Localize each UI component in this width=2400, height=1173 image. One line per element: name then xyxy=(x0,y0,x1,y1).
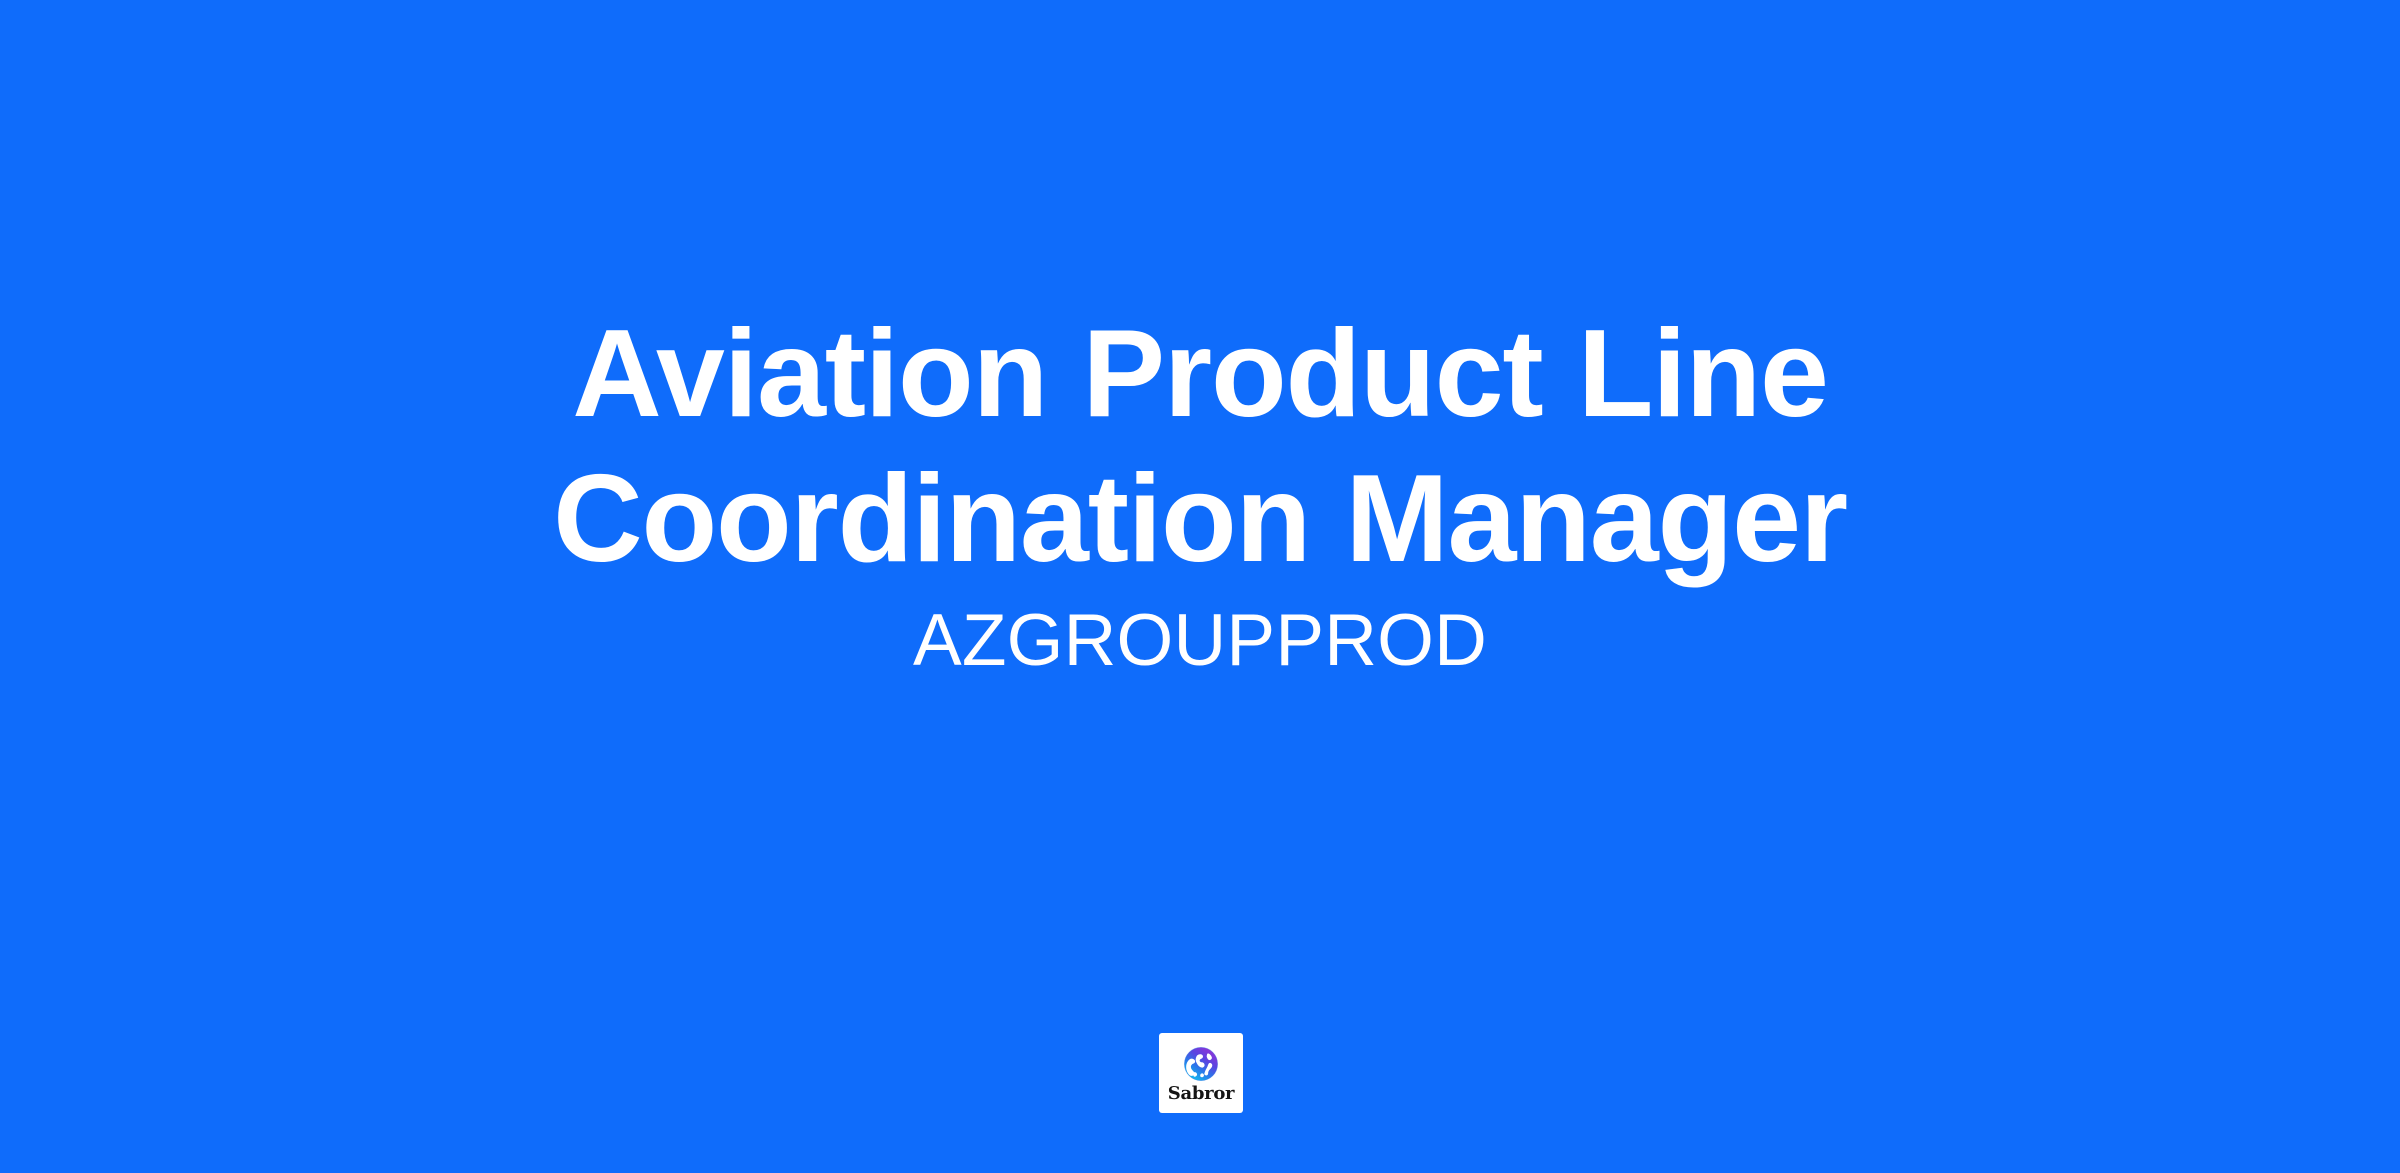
page-subtitle: AZGROUPPROD xyxy=(913,598,1487,684)
hero-text-block: Aviation Product Line Coordination Manag… xyxy=(0,302,2400,684)
globe-icon xyxy=(1182,1045,1220,1083)
logo-wordmark: Sabror xyxy=(1168,1085,1234,1103)
brand-logo-badge: Sabror xyxy=(1159,1033,1243,1113)
page-title: Aviation Product Line Coordination Manag… xyxy=(550,302,1850,592)
title-slide: Aviation Product Line Coordination Manag… xyxy=(0,0,2400,1173)
